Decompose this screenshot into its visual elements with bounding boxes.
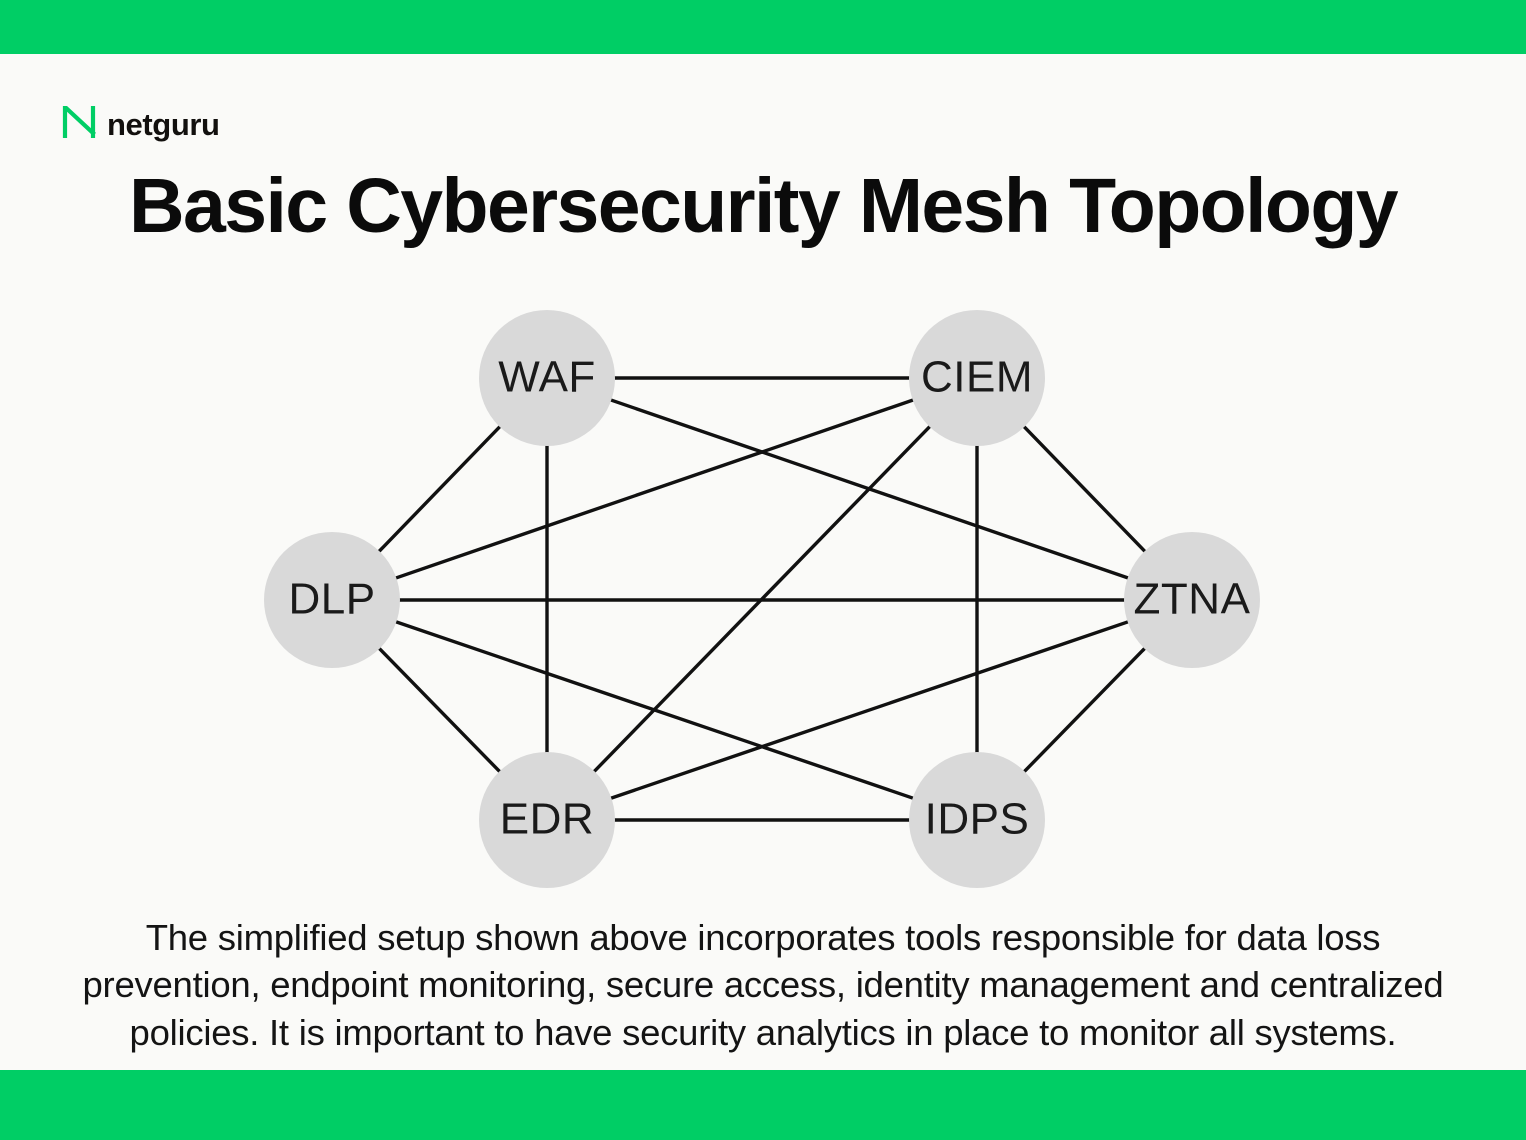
netguru-n-mark-icon [62, 106, 96, 143]
node-label-dlp: DLP [288, 575, 375, 624]
graph-edges [332, 378, 1192, 820]
caption-line-1: The simplified setup shown above incorpo… [55, 914, 1471, 961]
brand-name: netguru [107, 109, 220, 140]
node-label-ciem: CIEM [921, 353, 1033, 402]
mesh-topology-graph: WAFCIEMDLPZTNAEDRIDPS [0, 275, 1526, 905]
netguru-logo: netguru [62, 106, 220, 143]
page-title: Basic Cybersecurity Mesh Topology [0, 166, 1526, 247]
caption-line-3: policies. It is important to have securi… [55, 1009, 1471, 1056]
caption-text: The simplified setup shown above incorpo… [55, 914, 1471, 1056]
node-label-ztna: ZTNA [1134, 575, 1251, 624]
graph-node-edr[interactable]: EDR [479, 752, 615, 888]
caption-line-2: prevention, endpoint monitoring, secure … [55, 961, 1471, 1008]
node-label-edr: EDR [500, 795, 594, 844]
graph-node-dlp[interactable]: DLP [264, 532, 400, 668]
graph-node-waf[interactable]: WAF [479, 310, 615, 446]
graph-edge-ciem-dlp [332, 378, 977, 600]
graph-node-idps[interactable]: IDPS [909, 752, 1045, 888]
graph-node-ciem[interactable]: CIEM [909, 310, 1045, 446]
graph-node-ztna[interactable]: ZTNA [1124, 532, 1260, 668]
node-label-idps: IDPS [925, 795, 1030, 844]
top-accent-bar [0, 0, 1526, 54]
graph-edge-dlp-idps [332, 600, 977, 820]
bottom-accent-bar [0, 1070, 1526, 1140]
graph-edge-ztna-edr [547, 600, 1192, 820]
node-label-waf: WAF [498, 353, 596, 402]
